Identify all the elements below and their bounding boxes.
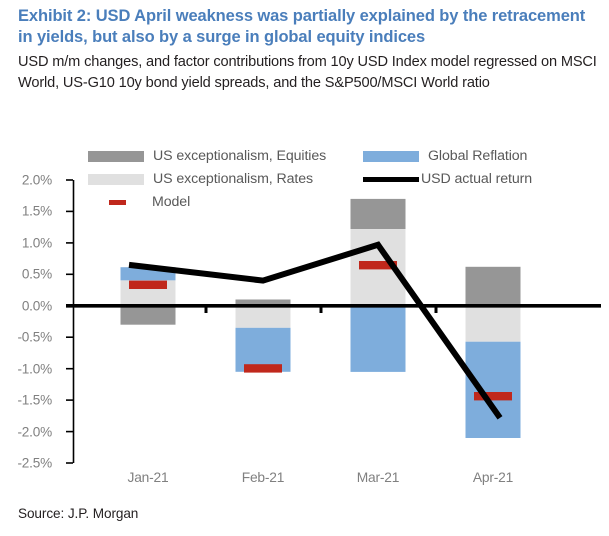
bar-group-apr-21 <box>466 267 521 438</box>
chart-figure: Exhibit 2: USD April weakness was partia… <box>0 0 609 536</box>
legend-item-reflation[interactable]: Global Reflation <box>363 148 527 164</box>
bar-segment-equities <box>121 306 176 325</box>
legend-label-rates: US exceptionalism, Rates <box>153 171 313 187</box>
x-tick-label-apr: Apr-21 <box>448 470 538 485</box>
y-tick-label: -1.5% <box>6 393 52 408</box>
model-swatch-icon <box>109 200 126 205</box>
usd-actual-return-line <box>129 245 500 418</box>
bar-segment-equities <box>236 300 291 306</box>
x-tick-label-jan: Jan-21 <box>103 470 193 485</box>
model-marker-mar-21 <box>359 261 397 269</box>
reflation-swatch-icon <box>363 151 419 162</box>
y-axis-spine <box>66 180 74 463</box>
bar-segment-reflation <box>351 306 406 372</box>
y-tick-label: 2.0% <box>6 173 52 188</box>
y-tick-label: -2.0% <box>6 425 52 440</box>
bar-segment-reflation <box>236 328 291 372</box>
chart-legend: US exceptionalism, Equities Global Refla… <box>0 146 609 204</box>
exhibit-subtitle: USD m/m changes, and factor contribution… <box>18 52 598 93</box>
bar-segment-rates <box>351 229 406 306</box>
legend-label-actual-return: USD actual return <box>421 171 532 187</box>
y-tick-label: 0.0% <box>6 299 52 314</box>
y-tick-label: -0.5% <box>6 330 52 345</box>
x-axis-ticks <box>206 307 436 313</box>
bar-segment-rates <box>236 306 291 328</box>
rates-swatch-icon <box>88 174 144 185</box>
exhibit-title: Exhibit 2: USD April weakness was partia… <box>18 6 593 48</box>
bar-segment-rates <box>121 280 176 305</box>
legend-label-equities: US exceptionalism, Equities <box>153 148 326 164</box>
x-tick-label-mar: Mar-21 <box>333 470 423 485</box>
legend-item-actual-return[interactable]: USD actual return <box>363 171 532 187</box>
legend-label-model: Model <box>152 194 190 210</box>
model-marker-feb-21 <box>244 364 282 372</box>
bar-segment-equities <box>466 267 521 306</box>
bar-group-feb-21 <box>236 300 291 372</box>
legend-item-equities[interactable]: US exceptionalism, Equities <box>88 148 326 164</box>
legend-item-rates[interactable]: US exceptionalism, Rates <box>88 171 313 187</box>
y-tick-label: -1.0% <box>6 362 52 377</box>
legend-item-model[interactable]: Model <box>88 194 190 210</box>
source-note: Source: J.P. Morgan <box>18 506 138 521</box>
model-markers <box>129 261 512 400</box>
y-tick-label: 1.5% <box>6 204 52 219</box>
y-tick-label: 0.5% <box>6 267 52 282</box>
y-tick-label: 1.0% <box>6 236 52 251</box>
bar-segment-rates <box>466 306 521 342</box>
equities-swatch-icon <box>88 151 144 162</box>
model-marker-jan-21 <box>129 281 167 289</box>
bar-segment-reflation <box>466 342 521 438</box>
y-tick-label: -2.5% <box>6 456 52 471</box>
legend-label-reflation: Global Reflation <box>428 148 527 164</box>
x-tick-label-feb: Feb-21 <box>218 470 308 485</box>
bar-group-mar-21 <box>351 199 406 372</box>
actual-line-swatch-icon <box>363 177 419 182</box>
model-marker-apr-21 <box>474 392 512 400</box>
bar-segment-reflation <box>121 267 176 280</box>
bar-group-jan-21 <box>121 267 176 324</box>
